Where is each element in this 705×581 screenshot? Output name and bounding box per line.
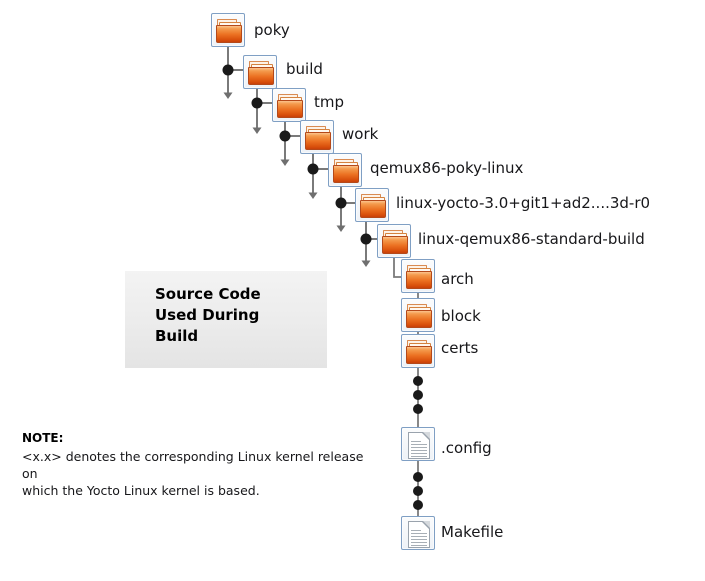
node-makefile[interactable] xyxy=(401,516,435,550)
node-label-build: build xyxy=(286,61,323,77)
node-certs[interactable] xyxy=(401,334,435,368)
folder-icon xyxy=(243,55,277,89)
junction-dot-linuxyocto xyxy=(361,234,372,245)
folder-icon xyxy=(328,153,362,187)
ellipsis-dot-1 xyxy=(413,376,423,386)
node-label-qemux86-poky-linux: qemux86-poky-linux xyxy=(370,160,523,176)
folder-icon xyxy=(355,188,389,222)
source-code-callout-text: Source Code Used During Build xyxy=(155,284,261,347)
document-icon xyxy=(401,427,435,461)
node-label-config-file: .config xyxy=(441,440,492,456)
ellipsis-dot-3 xyxy=(413,404,423,414)
node-label-arch: arch xyxy=(441,271,474,287)
node-label-linux-yocto: linux-yocto-3.0+git1+ad2....3d-r0 xyxy=(396,195,650,211)
folder-icon xyxy=(401,298,435,332)
ellipsis-dot-2 xyxy=(413,390,423,400)
note-body: <x.x> denotes the corresponding Linux ke… xyxy=(22,448,382,499)
node-poky[interactable] xyxy=(211,13,245,47)
ellipsis-dot-4 xyxy=(413,472,423,482)
node-label-linux-qemux86-standard-build: linux-qemux86-standard-build xyxy=(418,231,645,247)
note-title: NOTE: xyxy=(22,431,63,445)
folder-icon xyxy=(211,13,245,47)
folder-icon xyxy=(401,259,435,293)
folder-icon xyxy=(272,88,306,122)
node-tmp[interactable] xyxy=(272,88,306,122)
node-label-tmp: tmp xyxy=(314,94,344,110)
node-qemux86-poky-linux[interactable] xyxy=(328,153,362,187)
node-linux-qemux86-standard-build[interactable] xyxy=(377,224,411,258)
ellipsis-dot-5 xyxy=(413,486,423,496)
junction-dot-poky xyxy=(223,65,234,76)
junction-dot-build xyxy=(252,98,263,109)
node-build[interactable] xyxy=(243,55,277,89)
directory-tree-diagram: poky build tmp work qemux86-poky-linux l… xyxy=(0,0,705,581)
node-arch[interactable] xyxy=(401,259,435,293)
folder-icon xyxy=(377,224,411,258)
ellipsis-dot-6 xyxy=(413,500,423,510)
node-label-poky: poky xyxy=(254,22,290,38)
source-code-callout-box: Source Code Used During Build xyxy=(125,271,327,368)
junction-dot-tmp xyxy=(280,131,291,142)
document-icon xyxy=(401,516,435,550)
node-label-certs: certs xyxy=(441,340,478,356)
folder-icon xyxy=(401,334,435,368)
junction-dot-work xyxy=(308,164,319,175)
node-label-block: block xyxy=(441,308,481,324)
node-label-makefile: Makefile xyxy=(441,524,503,540)
node-config-file[interactable] xyxy=(401,427,435,461)
folder-icon xyxy=(300,120,334,154)
node-work[interactable] xyxy=(300,120,334,154)
junction-dot-qemux86 xyxy=(336,198,347,209)
node-block[interactable] xyxy=(401,298,435,332)
node-linux-yocto[interactable] xyxy=(355,188,389,222)
node-label-work: work xyxy=(342,126,378,142)
